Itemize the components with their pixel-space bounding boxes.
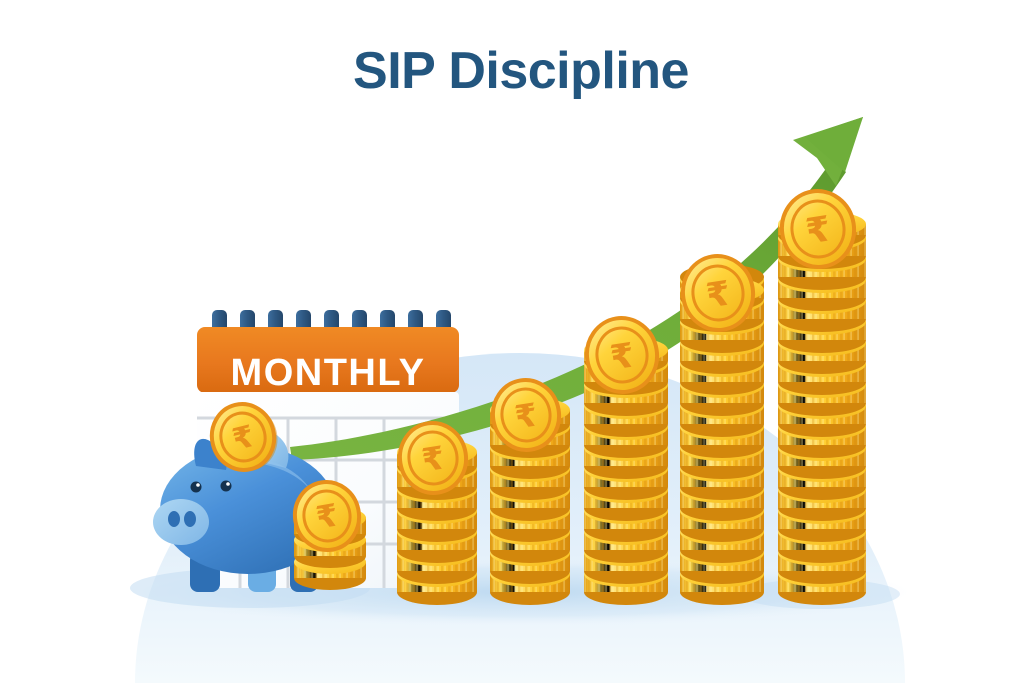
coin-stack-5: ₹ (776, 186, 866, 605)
piggy-snout (153, 499, 209, 545)
coin-stack-4: ₹ (678, 251, 764, 605)
illustration-canvas: SIP Discipline MONTHLY (0, 0, 1024, 683)
coin-stack-3: ₹ (582, 313, 668, 605)
piggy-nostril (184, 511, 196, 527)
piggy-eye (221, 481, 232, 492)
coin-stack-1: ₹ (395, 418, 477, 605)
piggy-nostril (168, 511, 180, 527)
calendar-label: MONTHLY (231, 352, 426, 394)
coin-stack-2: ₹ (488, 375, 570, 605)
piggy-eye (191, 482, 202, 493)
sip-discipline-illustration: SIP Discipline MONTHLY (0, 0, 1024, 683)
piggy-eye-glint (196, 483, 200, 487)
piggy-eye-glint (226, 482, 230, 486)
page-title: SIP Discipline (353, 42, 689, 100)
